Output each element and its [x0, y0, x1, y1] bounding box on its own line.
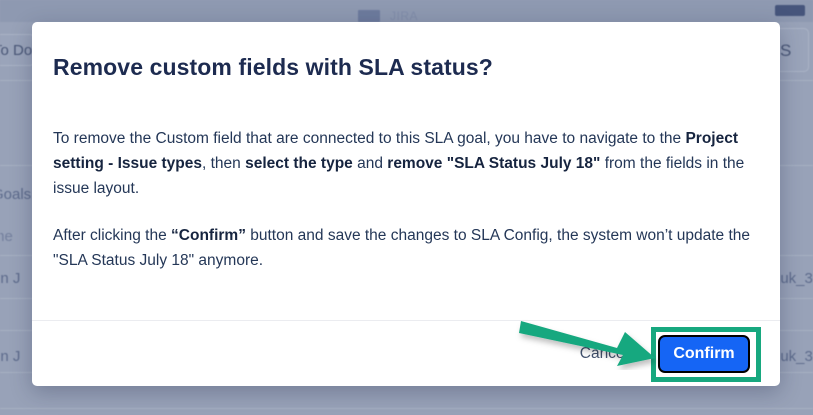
paragraph1-bold-select-type: select the type — [245, 155, 353, 172]
cancel-button[interactable]: Cancel — [570, 337, 638, 371]
dialog-footer: Cancel Confirm — [32, 321, 780, 386]
jira-logo-icon — [358, 10, 380, 22]
paragraph2-bold-confirm: “Confirm” — [171, 227, 246, 244]
paragraph1-text-part2: , then — [202, 155, 245, 172]
background-row-label: me — [0, 228, 13, 245]
dialog-title: Remove custom fields with SLA status? — [53, 54, 753, 81]
dialog-paragraph-2: After clicking the “Confirm” button and … — [53, 223, 753, 273]
confirm-button[interactable]: Confirm — [658, 335, 750, 373]
confirm-button-wrapper: Confirm — [658, 335, 750, 373]
background-topbar-chip — [775, 5, 805, 16]
paragraph1-text-part1: To remove the Custom field that are conn… — [53, 130, 685, 147]
confirmation-dialog: Remove custom fields with SLA status? To… — [32, 22, 780, 386]
background-topbar-label: JIRA — [390, 9, 452, 20]
background-todo-chip[interactable]: To Do — [0, 34, 34, 66]
dialog-paragraph-1: To remove the Custom field that are conn… — [53, 126, 753, 201]
paragraph1-text-part3: and — [353, 155, 387, 172]
background-divider — [0, 408, 813, 409]
dialog-body: To remove the Custom field that are conn… — [53, 126, 753, 273]
background-row-label: on J — [0, 270, 20, 287]
paragraph1-bold-remove-field: remove "SLA Status July 18" — [387, 155, 600, 172]
background-row-label: on J — [0, 348, 20, 365]
background-row-label: Goals — [0, 186, 31, 203]
paragraph2-text-part1: After clicking the — [53, 227, 171, 244]
